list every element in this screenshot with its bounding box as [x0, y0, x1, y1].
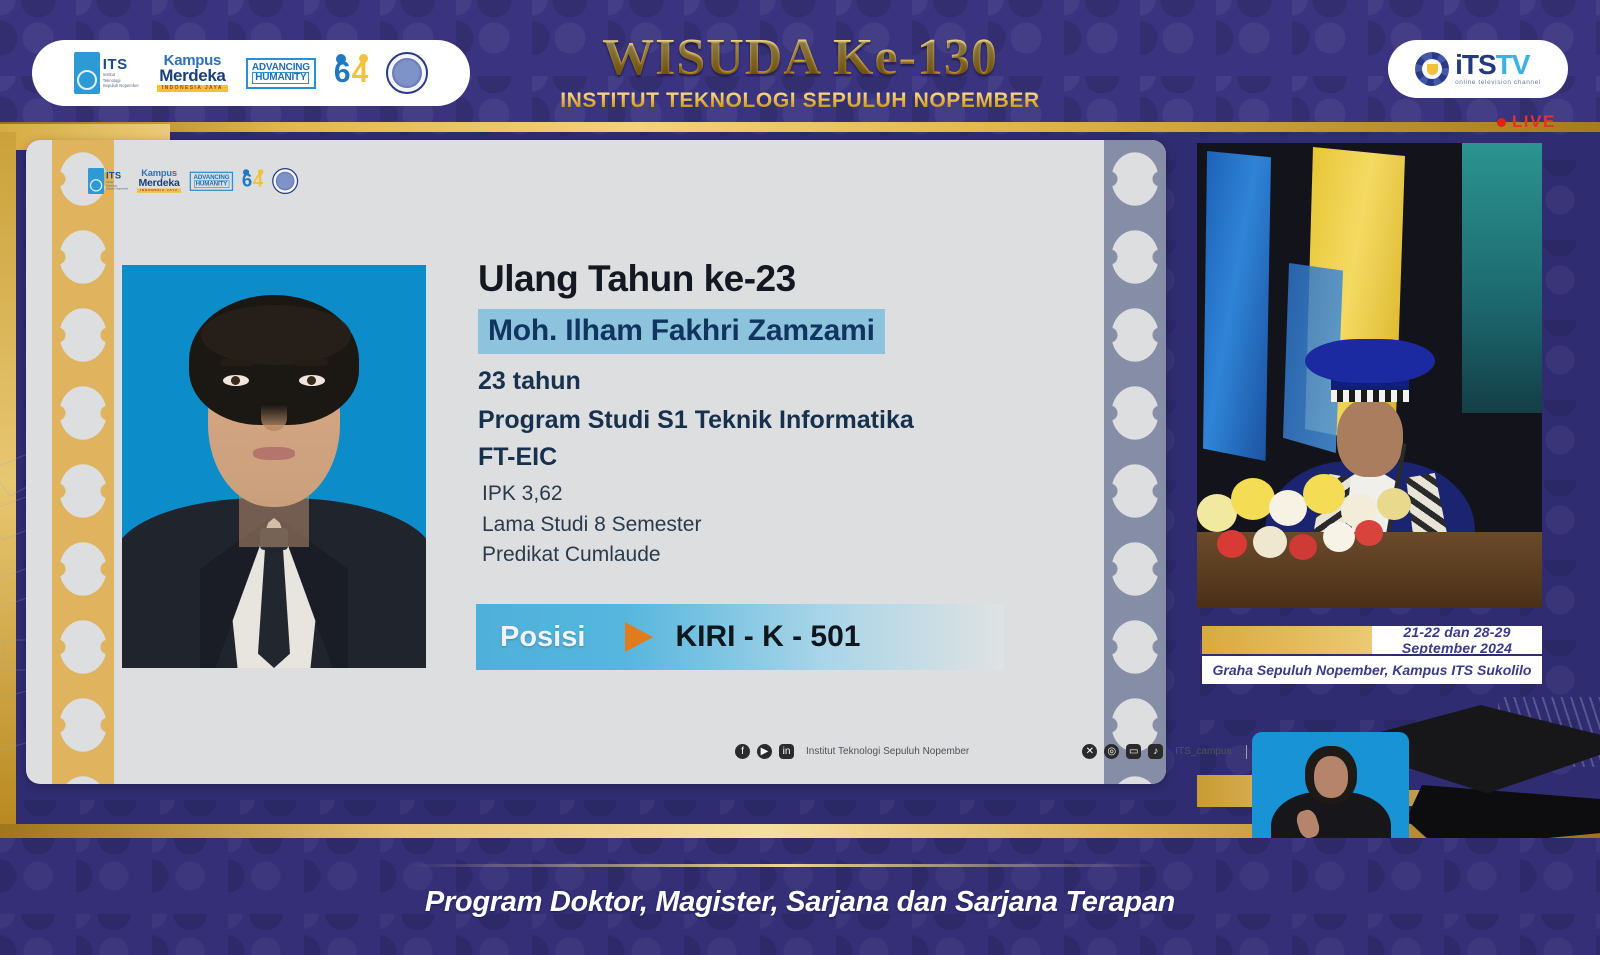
its-seal-inner-icon	[276, 172, 295, 191]
live-label: LIVE	[1512, 112, 1556, 132]
graduate-name-highlight: Moh. Ilham Fakhri Zamzami	[478, 309, 885, 354]
kampus-merdeka-logo: Kampus Merdeka INDONESIA JAYA	[137, 169, 181, 193]
graduate-age: 23 tahun	[478, 367, 1038, 396]
advancing-humanity-logo: ADVANCING HUMANITY	[190, 171, 233, 190]
itstv-gear-icon	[1415, 52, 1449, 86]
graduate-predicate: Predikat Cumlaude	[482, 540, 1038, 571]
x-twitter-icon[interactable]: ✕	[1082, 744, 1097, 759]
arrow-right-icon	[625, 622, 653, 652]
event-dates-row: 21-22 dan 28-29 September 2024	[1202, 626, 1542, 654]
social-handle: ITS_campus	[1175, 746, 1231, 757]
facebook-icon[interactable]: f	[735, 744, 750, 759]
instagram-icon[interactable]: ◎	[1104, 744, 1119, 759]
video-backdrop-curtain	[1462, 143, 1542, 413]
linkedin-icon[interactable]: in	[779, 744, 794, 759]
tiktok-icon[interactable]: ♪	[1148, 744, 1163, 759]
youtube-icon[interactable]: ▶	[757, 744, 772, 759]
header-title-block: WISUDA Ke-130 INSTITUT TEKNOLOGI SEPULUH…	[0, 28, 1600, 113]
footer-gold-rule	[410, 864, 1160, 867]
footer-programs-text: Program Doktor, Magister, Sarjana dan Sa…	[0, 886, 1600, 919]
its-seal-logo	[272, 168, 298, 194]
its-logo-sub3: Sepuluh Nopember	[106, 187, 128, 191]
card-social-footer: f ▶ in Institut Teknologi Sepuluh Nopemb…	[735, 744, 1296, 759]
header-banner: ITS Institut Teknologi Sepuluh Nopember …	[0, 0, 1600, 132]
photo-eye-left	[223, 375, 249, 386]
header-gold-divider	[0, 122, 1600, 132]
its-64-logo: 6 4	[242, 174, 263, 189]
its-logo-mark	[88, 168, 104, 194]
footer-divider-2	[1246, 745, 1247, 759]
photo-mouth	[253, 447, 295, 460]
position-value: KIRI - K - 501	[675, 620, 860, 654]
card-ornament-right	[1104, 140, 1166, 784]
birthday-title: Ulang Tahun ke-23	[478, 258, 1038, 300]
position-bar: Posisi KIRI - K - 501	[476, 604, 1004, 670]
graduate-program: Program Studi S1 Teknik Informatika	[478, 406, 1038, 435]
event-info-box: 21-22 dan 28-29 September 2024 Graha Sep…	[1202, 626, 1542, 684]
graduate-gpa: IPK 3,62	[482, 479, 1038, 510]
kampus-merdeka-tagline: INDONESIA JAYA	[137, 189, 181, 193]
event-venue: Graha Sepuluh Nopember, Kampus ITS Sukol…	[1213, 662, 1532, 678]
event-gold-tab	[1202, 626, 1372, 654]
photo-eye-right	[299, 375, 325, 386]
photo-brow-left	[220, 359, 254, 366]
live-video-feed[interactable]	[1197, 143, 1542, 608]
video-rector-cap-band	[1331, 390, 1409, 402]
graduate-duration: Lama Studi 8 Semester	[482, 510, 1038, 541]
itstv-its-text: iTS	[1455, 51, 1496, 79]
interpreter-face	[1314, 756, 1348, 798]
page-subtitle: INSTITUT TEKNOLOGI SEPULUH NOPEMBER	[0, 89, 1600, 113]
itstv-logo: iTS TV online television channel	[1388, 40, 1568, 98]
its64-six: 6	[242, 174, 252, 189]
event-dates: 21-22 dan 28-29 September 2024	[1372, 624, 1542, 656]
card-ornament-left	[52, 140, 114, 784]
video-flag-blue	[1203, 151, 1271, 461]
graduate-details: IPK 3,62 Lama Studi 8 Semester Predikat …	[478, 479, 1038, 571]
kampus-merdeka-line2: Merdeka	[139, 178, 180, 188]
itstv-caption: online television channel	[1455, 80, 1541, 87]
graduate-info: Ulang Tahun ke-23 Moh. Ilham Fakhri Zamz…	[478, 258, 1038, 571]
live-indicator: LIVE	[1497, 112, 1556, 132]
its64-dot-yellow-icon	[258, 169, 264, 175]
footer-banner: Program Doktor, Magister, Sarjana dan Sa…	[0, 838, 1600, 955]
video-flower-arrangement	[1197, 460, 1421, 580]
photo-brow-right	[294, 359, 328, 366]
its-logo: ITS Institut Teknologi Sepuluh Nopember	[88, 168, 128, 194]
broadcast-stage: ITS Institut Teknologi Sepuluh Nopember …	[0, 0, 1600, 955]
event-venue-row: Graha Sepuluh Nopember, Kampus ITS Sukol…	[1202, 656, 1542, 684]
its-seal-icon	[90, 179, 102, 191]
video-rector-cap	[1305, 339, 1435, 383]
live-dot-icon	[1497, 118, 1506, 127]
graduate-photo	[122, 265, 426, 668]
card-logo-strip: ITS Institut Teknologi Sepuluh Nopember …	[88, 168, 298, 194]
page-title: WISUDA Ke-130	[0, 28, 1600, 87]
its-logo-text: ITS	[106, 171, 128, 180]
position-label: Posisi	[500, 621, 585, 654]
itstv-tv-text: TV	[1496, 51, 1530, 79]
humanity-text: HUMANITY	[194, 180, 229, 187]
graduate-faculty: FT-EIC	[478, 443, 1038, 472]
graduate-name: Moh. Ilham Fakhri Zamzami	[488, 314, 875, 347]
photo-nose	[261, 405, 287, 431]
its64-four: 4	[253, 174, 263, 189]
threads-icon[interactable]: ▭	[1126, 744, 1141, 759]
institution-handle: Institut Teknologi Sepuluh Nopember	[806, 746, 969, 757]
